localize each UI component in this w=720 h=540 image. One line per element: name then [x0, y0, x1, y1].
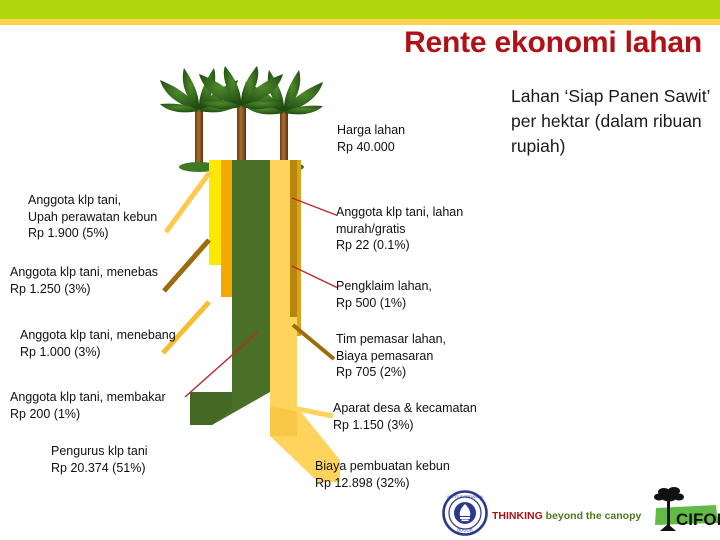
svg-text:INSTITUT PERTANIAN: INSTITUT PERTANIAN [447, 495, 483, 499]
footer: INSTITUT PERTANIAN BOGOR THINKING beyond… [430, 488, 720, 540]
bar-dark-green [232, 160, 270, 350]
tagline-rest: beyond the canopy [546, 510, 642, 522]
header-gold-bar [0, 19, 720, 25]
header-green-bar [0, 0, 720, 19]
label-lahan-murah-gratis: Anggota klp tani, lahan murah/gratis Rp … [336, 204, 463, 254]
cifor-tagline: THINKING beyond the canopy [492, 510, 641, 522]
label-harga-lahan: Harga lahan Rp 40.000 [337, 122, 405, 155]
svg-text:BOGOR: BOGOR [457, 528, 473, 533]
label-membakar: Anggota klp tani, membakar Rp 200 (1%) [10, 389, 166, 422]
label-biaya-pembuatan-kebun: Biaya pembuatan kebun Rp 12.898 (32%) [315, 458, 450, 491]
label-pengurus-klp-tani: Pengurus klp tani Rp 20.374 (51%) [51, 443, 148, 476]
stacked-bar-diagram [190, 160, 340, 500]
bar-light-gold-lower [270, 329, 297, 407]
label-pengklaim-lahan: Pengklaim lahan, Rp 500 (1%) [336, 278, 432, 311]
label-menebang: Anggota klp tani, menebang Rp 1.000 (3%) [20, 327, 176, 360]
bar-light-gold [270, 160, 290, 317]
ipb-seal-icon: INSTITUT PERTANIAN BOGOR [442, 490, 488, 536]
palm-tree-right [245, 70, 323, 172]
palm-tree-center [199, 66, 283, 173]
cifor-wordmark: CIFOR [676, 510, 720, 529]
cifor-logo: CIFOR [642, 484, 720, 540]
label-aparat-desa-kecamatan: Aparat desa & kecamatan Rp 1.150 (3%) [333, 400, 477, 433]
bar-bright-yellow [209, 160, 221, 265]
subtitle-caption: Lahan ‘Siap Panen Sawit’ per hektar (dal… [511, 84, 711, 159]
tagline-thinking: THINKING [492, 510, 543, 522]
label-upah-perawatan-kebun: Anggota klp tani, Upah perawatan kebun R… [28, 192, 157, 242]
bar-amber [221, 160, 232, 297]
bar-dark-amber-2 [297, 160, 301, 336]
label-tim-pemasar-lahan: Tim pemasar lahan, Biaya pemasaran Rp 70… [336, 331, 446, 381]
slide: Rente ekonomi lahan Lahan ‘Siap Panen Sa… [0, 0, 720, 540]
label-menebas: Anggota klp tani, menebas Rp 1.250 (3%) [10, 264, 158, 297]
page-title: Rente ekonomi lahan [404, 26, 702, 60]
bar-dark-amber-1 [290, 160, 297, 336]
